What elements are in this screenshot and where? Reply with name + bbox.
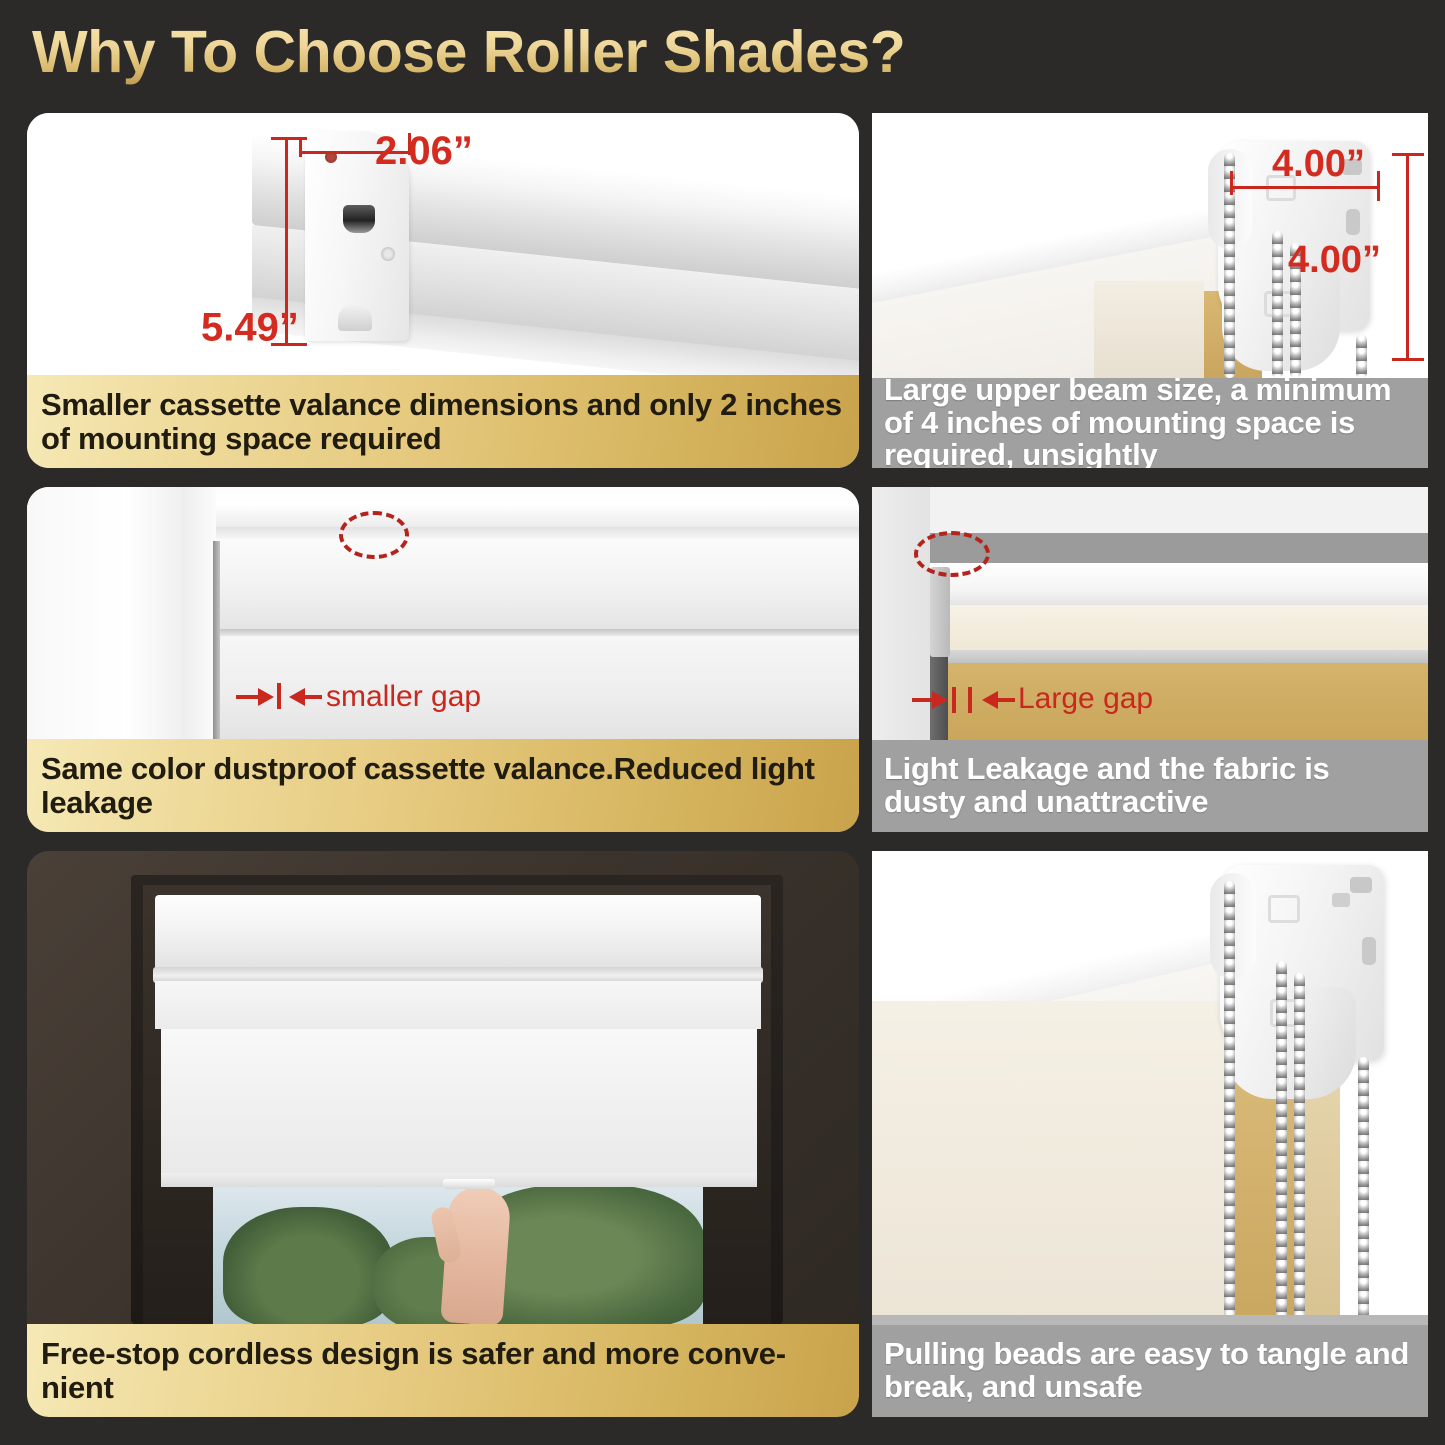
panel-4-photo: Large gap — [872, 487, 1428, 740]
valance-seam — [217, 629, 859, 636]
panel-3-caption-text: Same color dustproof cassette valance.Re… — [41, 752, 845, 818]
large-gap-label: Large gap — [1018, 682, 1153, 716]
gap-arrow-right-stem — [997, 698, 1015, 702]
smaller-gap-label: smaller gap — [326, 680, 481, 714]
bead-chain-2 — [1272, 231, 1283, 378]
bead-chain-2 — [1276, 961, 1287, 1325]
gap-marker-bar-b — [968, 687, 972, 713]
panel-5-caption-text: Free-stop cordless design is safer and m… — [41, 1337, 845, 1403]
beam-depth-tick-bottom — [1392, 358, 1424, 361]
panel-6-photo — [872, 851, 1428, 1325]
panel-2-caption-text: Large upper beam size, a minimum of 4 in… — [884, 374, 1416, 468]
casing-inner-bevel — [187, 527, 859, 539]
panel-3-photo: smaller gap — [27, 487, 859, 739]
panel-1-caption-text: Smaller cassette valance dimensions and … — [41, 388, 845, 454]
bracket-mount-slot-1 — [1350, 877, 1372, 893]
exposed-bracket-clip — [930, 567, 950, 657]
page-title: Why To Choose Roller Shades? — [32, 18, 1032, 90]
pull-tab — [443, 1179, 495, 1189]
detail-circle-icon — [339, 511, 409, 559]
shade-fabric-cream — [1094, 281, 1204, 378]
gap-marker-bar — [277, 683, 281, 709]
gap-arrow-right-stem — [304, 695, 322, 699]
panel-2-large-beam: 4.00” 4.00” Large upper beam size, a min… — [872, 113, 1428, 468]
width-dim-tick-left — [299, 137, 302, 157]
end-cap-knob — [338, 305, 372, 331]
wall-top — [872, 487, 1428, 533]
beam-width-tick-right — [1377, 171, 1380, 201]
gap-arrow-right-head — [982, 691, 998, 709]
window-casing-top — [187, 487, 859, 531]
panel-4-caption-text: Light Leakage and the fabric is dusty an… — [884, 753, 1416, 818]
window-casing-left — [27, 487, 205, 739]
panel-1-photo: 2.06” 5.49” — [27, 113, 859, 375]
panel-1-caption-bar: Smaller cassette valance dimensions and … — [27, 375, 859, 468]
beam-depth-label: 4.00” — [1288, 239, 1381, 282]
cassette-valance — [155, 895, 761, 973]
valance-bottom-rail — [930, 650, 1428, 664]
height-dim-tick-top — [271, 137, 307, 140]
gap-arrow-left-head — [258, 688, 274, 706]
width-dimension-label: 2.06” — [375, 129, 473, 174]
panel-3-dustproof-valance: smaller gap Same color dustproof cassett… — [27, 487, 859, 832]
panel-2-caption-bar: Large upper beam size, a minimum of 4 in… — [872, 378, 1428, 468]
panel-5-cordless-design: Free-stop cordless design is safer and m… — [27, 851, 859, 1417]
bead-chain-3 — [1294, 973, 1305, 1325]
end-cap-screw-mid — [381, 247, 395, 261]
panel-6-caption-text: Pulling beads are easy to tangle and bre… — [884, 1338, 1416, 1403]
panel-6-caption-bar: Pulling beads are easy to tangle and bre… — [872, 1325, 1428, 1417]
gap-marker-bar-a — [952, 687, 956, 713]
gap-arrow-left-head — [932, 691, 948, 709]
bracket-mount-slot-2 — [1332, 893, 1350, 907]
panel-5-caption-bar: Free-stop cordless design is safer and m… — [27, 1324, 859, 1417]
panel-2-photo: 4.00” 4.00” — [872, 113, 1428, 378]
bead-chain-4 — [1358, 1057, 1369, 1325]
shade-left-gap — [213, 541, 220, 739]
valance-second-band — [155, 981, 761, 1029]
wall-left — [872, 487, 930, 740]
shade-fabric-cream — [872, 1001, 1230, 1325]
gap-arrow-right-head — [289, 688, 305, 706]
beam-width-dim-line — [1230, 186, 1380, 189]
tree-foliage-left — [223, 1207, 393, 1324]
gap-arrow-left-stem — [236, 695, 260, 699]
beam-width-label: 4.00” — [1272, 143, 1365, 186]
photo-bottom-strip — [872, 1315, 1428, 1325]
casing-corner-bevel — [182, 487, 216, 739]
end-cap-slot — [343, 205, 375, 233]
detail-circle-icon — [914, 531, 990, 577]
infographic-root: Why To Choose Roller Shades? Why To Choo… — [0, 0, 1445, 1445]
height-dimension-label: 5.49” — [201, 306, 299, 351]
panel-4-caption-bar: Light Leakage and the fabric is dusty an… — [872, 740, 1428, 832]
panel-4-light-leakage: Large gap Light Leakage and the fabric i… — [872, 487, 1428, 832]
panel-5-photo — [27, 851, 859, 1324]
bead-chain-1 — [1224, 881, 1235, 1325]
shade-fabric-main — [161, 1029, 757, 1187]
panel-6-bead-chains: Pulling beads are easy to tangle and bre… — [872, 851, 1428, 1417]
cream-band — [930, 605, 1428, 653]
bracket-mount-slot-2 — [1346, 209, 1360, 235]
beam-depth-dim-line — [1406, 153, 1409, 361]
gap-arrow-left-stem — [912, 698, 934, 702]
panel-1-cassette-dimensions: 2.06” 5.49” Smaller cassette valance dim… — [27, 113, 859, 468]
panel-3-caption-bar: Same color dustproof cassette valance.Re… — [27, 739, 859, 832]
beam-depth-tick-top — [1392, 153, 1424, 156]
shade-fabric — [217, 636, 859, 739]
bracket-mount-slot-3 — [1362, 937, 1376, 965]
cassette-valance-top — [217, 541, 859, 631]
beam-width-tick-left — [1230, 171, 1233, 195]
bracket-logo-top — [1268, 895, 1300, 923]
